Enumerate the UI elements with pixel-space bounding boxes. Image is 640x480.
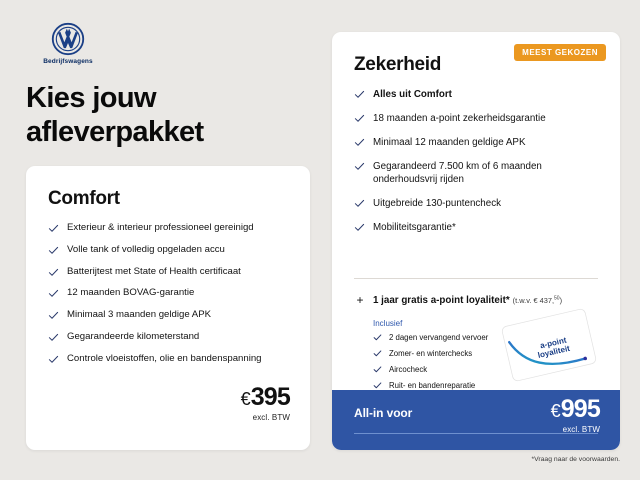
list-item-label: Batterijtest met State of Health certifi…	[67, 266, 241, 277]
list-item: 12 maanden BOVAG-garantie	[48, 287, 288, 300]
zekerheid-price: €995	[551, 397, 600, 422]
list-item-label: Minimaal 12 maanden geldige APK	[373, 137, 526, 148]
comfort-title: Comfort	[48, 188, 120, 210]
check-icon	[373, 349, 382, 358]
list-item: Minimaal 3 maanden geldige APK	[48, 309, 288, 322]
page-title: Kies jouw afleverpakket	[26, 82, 326, 150]
list-item: Uitgebreide 130-puntencheck	[354, 197, 604, 210]
list-item: Controle vloeistoffen, olie en bandenspa…	[48, 353, 288, 366]
brand-logo-block: Bedrijfswagens	[36, 22, 100, 66]
check-icon	[48, 245, 59, 256]
bonus-value-suffix: )	[560, 296, 562, 305]
check-icon	[48, 223, 59, 234]
check-icon	[48, 354, 59, 365]
check-icon	[48, 310, 59, 321]
comfort-price-note: excl. BTW	[241, 413, 290, 422]
list-item: Exterieur & interieur professioneel gere…	[48, 222, 288, 235]
check-icon	[48, 267, 59, 278]
check-icon	[354, 222, 365, 233]
check-icon	[354, 113, 365, 124]
list-item: Gegarandeerde kilometerstand	[48, 331, 288, 344]
price-amount: 395	[251, 383, 290, 411]
footer-label: All-in voor	[354, 406, 412, 420]
list-item: Minimaal 12 maanden geldige APK	[354, 136, 604, 149]
list-item-label: 12 maanden BOVAG-garantie	[67, 287, 194, 298]
list-item-label: Minimaal 3 maanden geldige APK	[67, 309, 211, 320]
zekerheid-feature-list: Alles uit Comfort 18 maanden a-point zek…	[354, 88, 604, 245]
list-item-label: Exterieur & interieur professioneel gere…	[67, 222, 254, 233]
price-amount: 995	[561, 395, 600, 423]
list-item: Batterijtest met State of Health certifi…	[48, 266, 288, 279]
list-item-label: 18 maanden a-point zekerheidsgarantie	[373, 113, 546, 124]
list-item: 18 maanden a-point zekerheidsgarantie	[354, 112, 604, 125]
plus-icon: +	[354, 294, 366, 306]
list-item-label: Alles uit Comfort	[373, 89, 452, 100]
currency-symbol: €	[241, 389, 251, 409]
bonus-row: + 1 jaar gratis a-point loyaliteit*(t.w.…	[354, 295, 604, 306]
disclaimer-text: *Vraag naar de voorwaarden.	[531, 456, 620, 463]
list-item-label: Uitgebreide 130-puntencheck	[373, 198, 501, 209]
poster-root: Bedrijfswagens Kies jouw afleverpakket C…	[0, 0, 640, 480]
check-icon	[373, 333, 382, 342]
check-icon	[354, 198, 365, 209]
package-card-comfort[interactable]: Comfort Exterieur & interieur profession…	[26, 166, 310, 450]
bonus-title: 1 jaar gratis a-point loyaliteit*	[373, 295, 510, 306]
list-item: Alles uit Comfort	[354, 88, 604, 101]
vw-roundel-logo-icon	[51, 22, 85, 56]
zekerheid-title: Zekerheid	[354, 54, 441, 76]
zekerheid-price-block: €995 excl. BTW	[551, 397, 600, 434]
list-item-label: Volle tank of volledig opgeladen accu	[67, 244, 225, 255]
package-card-zekerheid[interactable]: MEEST GEKOZEN Zekerheid Alles uit Comfor…	[332, 32, 620, 450]
check-icon	[354, 137, 365, 148]
check-icon	[373, 365, 382, 374]
divider	[354, 278, 598, 279]
headline-line-2: afleverpakket	[26, 116, 326, 150]
bonus-title-wrap: 1 jaar gratis a-point loyaliteit*(t.w.v.…	[354, 295, 604, 306]
headline-line-1: Kies jouw	[26, 82, 326, 116]
check-icon	[48, 332, 59, 343]
bonus-value-prefix: (t.w.v. € 437,	[513, 296, 554, 305]
list-item-label: Controle vloeistoffen, olie en bandenspa…	[67, 353, 262, 364]
list-item-label: Gegarandeerde kilometerstand	[67, 331, 199, 342]
list-item-label: 2 dagen vervangend vervoer	[389, 333, 488, 342]
list-item-label: Aircocheck	[389, 365, 427, 374]
list-item-label: Gegarandeerd 7.500 km of 6 maanden onder…	[373, 161, 542, 185]
zekerheid-price-footer: All-in voor €995 excl. BTW	[332, 390, 620, 450]
status-badge: MEEST GEKOZEN	[514, 44, 606, 61]
check-icon	[354, 161, 365, 172]
footer-rule	[354, 433, 598, 434]
currency-symbol: €	[551, 401, 561, 421]
bonus-value-note: (t.w.v. € 437,50)	[513, 296, 562, 305]
comfort-price-block: €395 excl. BTW	[241, 385, 290, 422]
check-icon	[354, 89, 365, 100]
list-item: Gegarandeerd 7.500 km of 6 maanden onder…	[354, 160, 604, 186]
comfort-price: €395	[241, 385, 290, 410]
brand-sub-label: Bedrijfswagens	[36, 59, 100, 66]
check-icon	[48, 288, 59, 299]
list-item: Volle tank of volledig opgeladen accu	[48, 244, 288, 257]
comfort-feature-list: Exterieur & interieur professioneel gere…	[48, 222, 288, 374]
list-item: Mobiliteitsgarantie*	[354, 221, 604, 234]
list-item-label: Zomer- en winterchecks	[389, 349, 472, 358]
list-item-label: Mobiliteitsgarantie*	[373, 222, 456, 233]
